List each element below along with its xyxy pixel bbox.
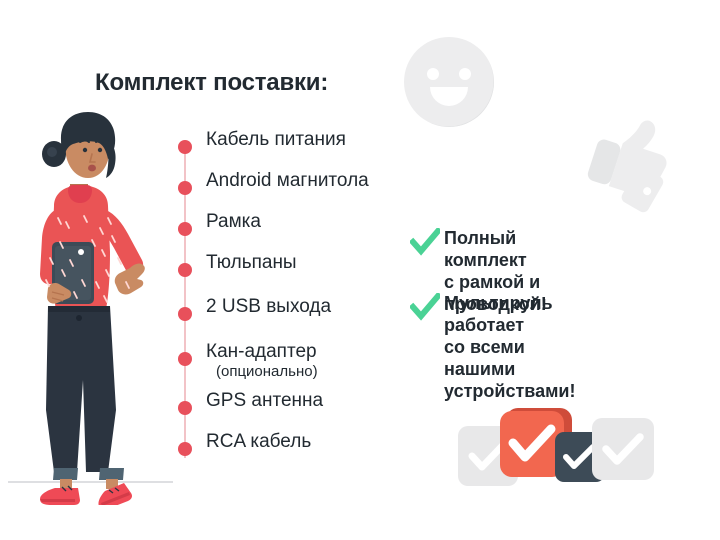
list-item-label: Тюльпаны [206,252,297,275]
list-item-label: GPS антенна [206,390,323,413]
list-item-label: RCA кабель [206,431,311,454]
thumbs-up-icon [572,112,684,220]
poster-canvas: Комплект поставки: Кабель питания Androi… [0,0,720,540]
list-item-label: Рамка [206,211,261,234]
supply-list: Кабель питания Android магнитола Рамка Т… [176,130,426,460]
bullet-dot [178,307,192,321]
list-item-label: 2 USB выхода [206,296,331,319]
checkbox-checked-icon [592,418,654,480]
check-icon [410,228,440,258]
smiley-face-icon [399,32,499,132]
bullet-dot [178,222,192,236]
list-item-label: Кабель питания [206,129,346,152]
woman-pointing-with-tablet-illustration [8,110,173,505]
list-item-label: Android магнитола [206,170,369,193]
watermark-text: Avito [645,497,702,523]
bullet-dot [178,401,192,415]
avito-logo-icon: Avito [616,494,708,524]
benefit-text: Мультируль работает со всеми нашими устр… [444,293,575,403]
checkbox-cards-decoration [458,404,648,496]
bullet-dot [178,263,192,277]
list-item-label: Кан-адаптер [206,341,317,364]
check-icon [410,293,440,323]
bullet-dot [178,181,192,195]
page-title: Комплект поставки: [95,69,328,97]
list-item-sublabel: (опционально) [216,363,318,381]
bullet-dot [178,352,192,366]
bullet-dot [178,442,192,456]
bullet-dot [178,140,192,154]
